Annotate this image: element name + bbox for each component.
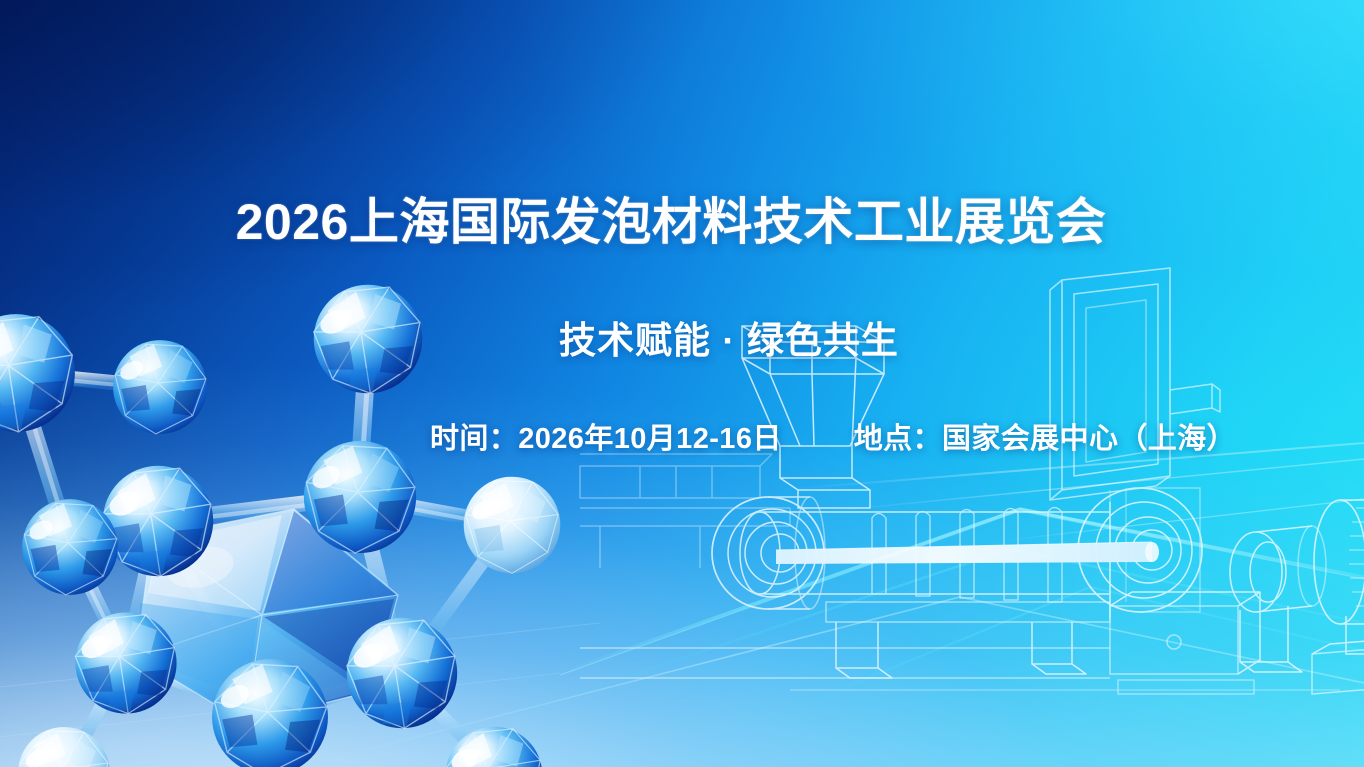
event-venue: 地点：国家会展中心（上海） (854, 415, 1236, 457)
event-info-line: 时间：2026年10月12-16日 地点：国家会展中心（上海） (430, 415, 1340, 457)
banner-canvas: 2026上海国际发泡材料技术工业展览会 技术赋能 · 绿色共生 时间：2026年… (0, 0, 1364, 767)
event-date: 时间：2026年10月12-16日 (430, 415, 782, 457)
page-title: 2026上海国际发泡材料技术工业展览会 (0, 194, 1342, 251)
banner-subtitle: 技术赋能 · 绿色共生 (376, 310, 1082, 364)
crystal-molecule-model (0, 175, 570, 767)
